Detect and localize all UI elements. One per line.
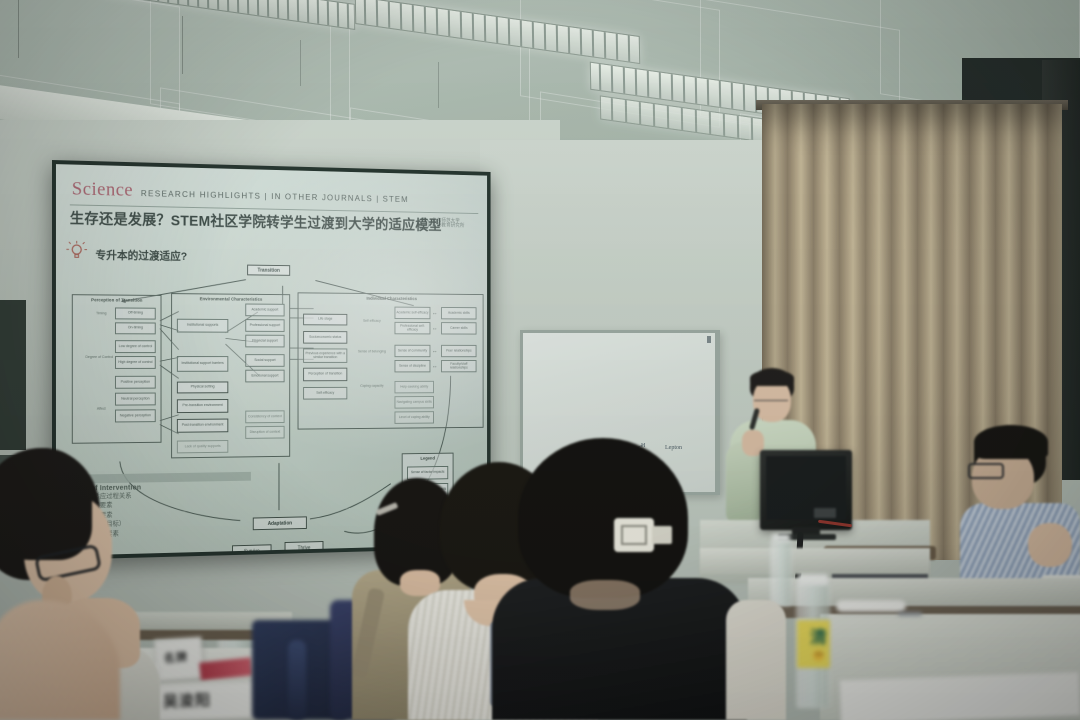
monitor bbox=[760, 450, 852, 530]
attendee-black-top-hairclip bbox=[614, 518, 654, 552]
env-out-3: Social support bbox=[245, 354, 284, 367]
attendee-right-glasses-icon bbox=[968, 463, 1004, 479]
attendee-far-right-torso bbox=[726, 600, 786, 720]
lightbulb-icon bbox=[66, 240, 88, 262]
paper-roll[interactable] bbox=[836, 600, 906, 612]
pen[interactable] bbox=[898, 612, 922, 616]
env-box-3: Pre-transition environment bbox=[177, 399, 228, 413]
side-board-left bbox=[0, 300, 26, 450]
ind-box-1: Socioeconomic status bbox=[303, 331, 347, 344]
attendee-front-left-hair-over bbox=[0, 448, 92, 560]
diagram-group-perception-title: Perception of Transition bbox=[72, 297, 162, 303]
perception-box-5: Neutral perception bbox=[115, 393, 156, 406]
perception-axis-control: Degree of Control bbox=[80, 356, 119, 360]
chick-mascot-icon bbox=[813, 650, 824, 661]
ind-pair-3b: Faculty/staff relationships bbox=[441, 360, 476, 372]
attendee-black-top bbox=[492, 438, 752, 720]
ind-pair-1a: Professional self-efficacy bbox=[395, 322, 431, 335]
env-out-4: Emotional support bbox=[245, 370, 284, 383]
ind-mid-2: Coping capacity bbox=[355, 385, 389, 389]
bottle-yellow-cap bbox=[798, 574, 828, 585]
ind-pair-2b: Peer relationships bbox=[441, 345, 476, 357]
env-out-5: Consistency of context bbox=[245, 410, 284, 423]
slide-title: 生存还是发展？STEM社区学院转学生过渡到大学的适应模型 bbox=[70, 210, 452, 235]
attendee-far-right-sliver bbox=[726, 600, 786, 720]
env-out-1: Professional support bbox=[245, 319, 284, 332]
backpack-strap bbox=[288, 640, 306, 720]
ind-pair-2a: Sense of community bbox=[395, 345, 431, 357]
name-placard-large: 吴浚阳 bbox=[149, 680, 266, 720]
ind-box-3: Perception of transition bbox=[303, 368, 347, 382]
slide-breadcrumbs: RESEARCH HIGHLIGHTS | IN OTHER JOURNALS … bbox=[141, 188, 409, 204]
diagram-node-transition: Transition bbox=[247, 265, 290, 276]
env-out-0: Academic support bbox=[245, 304, 284, 317]
attendee-black-top-neck bbox=[570, 580, 640, 610]
ind-mid-1: Sense of belonging bbox=[355, 350, 389, 354]
diagram-group-environmental-title: Environmental Characteristics bbox=[171, 296, 290, 302]
perception-box-6: Negative perception bbox=[115, 409, 156, 422]
env-box-0: Institutional supports bbox=[177, 319, 228, 333]
diagram-legend-title: Legend bbox=[402, 455, 454, 460]
perception-box-4: Positive perception bbox=[115, 376, 156, 389]
lecture-room-photo: Science RESEARCH HIGHLIGHTS | IN OTHER J… bbox=[0, 0, 1080, 720]
bottle-back[interactable] bbox=[770, 540, 792, 606]
ind-box-2: Previous experience with a similar trans… bbox=[303, 348, 347, 362]
perception-box-1: On-timing bbox=[115, 322, 156, 334]
ind-pair-3a: Sense of discipline bbox=[395, 360, 431, 372]
perception-box-3: High degree of control bbox=[115, 356, 156, 369]
attendee-right-hand bbox=[1028, 523, 1072, 567]
ind-single-0: Help-seeking ability bbox=[395, 381, 434, 394]
ind-single-1: Navigating campus skills bbox=[395, 396, 434, 409]
name-placard-small-text: 名牌 bbox=[163, 648, 188, 666]
bottle-back-cap bbox=[772, 534, 790, 542]
attendee-right-hair-top bbox=[974, 425, 1048, 459]
perception-axis-affect: Affect bbox=[88, 408, 115, 412]
env-box-1: Institutional support barriers bbox=[177, 356, 228, 372]
env-out-6: Disruption of context bbox=[245, 426, 284, 439]
env-box-2: Physical setting bbox=[177, 381, 228, 393]
science-logo: Science bbox=[72, 178, 133, 201]
bottle-label-text: 清 bbox=[810, 623, 827, 648]
name-placard-small: 名牌 bbox=[154, 636, 205, 681]
ind-pair-0a: Academic self-efficacy bbox=[395, 307, 431, 320]
name-placard-large-text: 吴浚阳 bbox=[163, 689, 212, 712]
env-box-4: Post-transition environment bbox=[177, 419, 228, 433]
attendee-black-top-hair bbox=[518, 438, 688, 598]
ind-pair-0b: Academic skills bbox=[441, 307, 476, 320]
perception-box-2: Low degree of control bbox=[115, 340, 156, 353]
ind-pair-1b: Career skills bbox=[441, 322, 476, 334]
presenter-glasses-icon bbox=[754, 393, 788, 401]
perception-box-0: Off-timing bbox=[115, 307, 156, 319]
diagram-node-survive: Survive bbox=[232, 544, 271, 556]
diagram-node-adaptation: Adaptation bbox=[253, 516, 307, 530]
paper-stack-right[interactable] bbox=[839, 672, 1080, 720]
ind-box-0: Life stage bbox=[303, 314, 347, 326]
env-box-5: Lack of quality supports bbox=[177, 440, 228, 453]
ind-single-2: Level of coping ability bbox=[395, 411, 434, 424]
ind-mid-0: Self-efficacy bbox=[355, 320, 389, 324]
env-out-2: Financial support bbox=[245, 335, 284, 348]
perception-axis-timing: Timing bbox=[88, 312, 115, 316]
diagram-node-thrive: Thrive bbox=[285, 541, 324, 555]
ind-box-4: Self-efficacy bbox=[303, 387, 347, 400]
attendee-black-top-hairclip-tail bbox=[652, 526, 672, 544]
presenter-hair-front bbox=[750, 370, 794, 386]
bottle-yellow-label: 清 bbox=[797, 620, 830, 668]
